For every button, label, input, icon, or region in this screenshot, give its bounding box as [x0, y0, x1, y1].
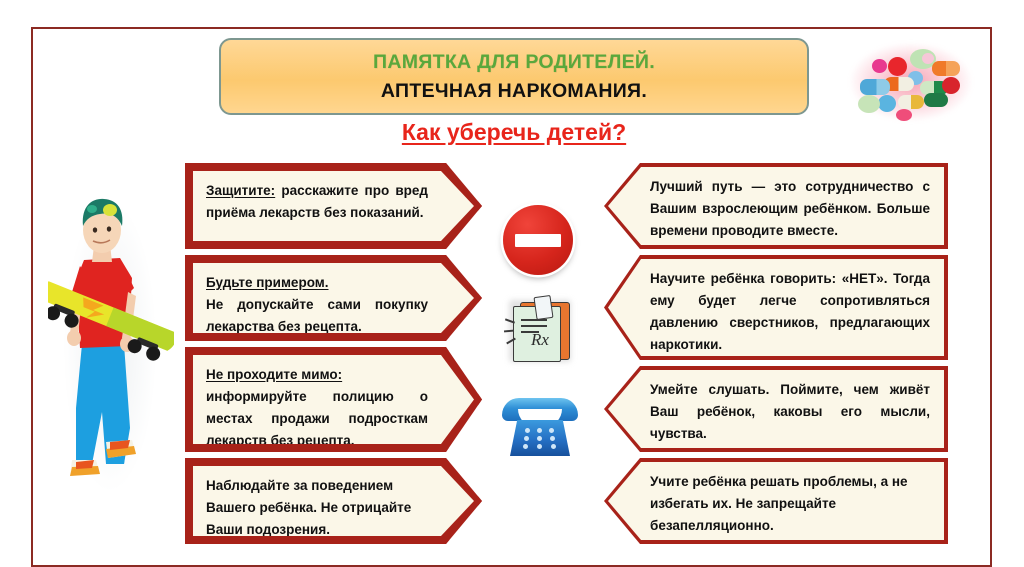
capsule-darkgreen	[924, 93, 948, 107]
advice-box-left-4-text: Наблюдайте за поведением Вашего ребёнка.…	[193, 466, 474, 536]
advice-box-right-4: Учите ребёнка решать проблемы, а не избе…	[604, 458, 948, 544]
advice-box-right-2: Научите ребёнка говорить: «НЕТ». Тогда е…	[604, 255, 948, 360]
pill-red-2	[942, 77, 960, 94]
rx-line-2	[521, 325, 547, 327]
advice-box-left-4: Наблюдайте за поведением Вашего ребёнка.…	[185, 458, 482, 544]
telephone-icon	[500, 396, 580, 458]
skater-figure-svg	[48, 196, 174, 496]
pills-image	[836, 33, 986, 133]
header-banner: ПАМЯТКА ДЛЯ РОДИТЕЛЕЙ. АПТЕЧНАЯ НАРКОМАН…	[219, 38, 809, 115]
advice-box-left-1-text: Защитите: расскажите про вред приёма лек…	[193, 171, 474, 241]
phone-key	[550, 436, 555, 441]
capsule-yellow-white	[898, 95, 924, 109]
pill-lightpink	[922, 53, 934, 64]
phone-key	[549, 428, 554, 433]
rx-line-1	[521, 319, 547, 321]
prescription-pad-icon: Rx	[505, 292, 577, 366]
phone-key	[524, 436, 529, 441]
advice-box-left-3: Не проходите мимо:информируйте полицию о…	[185, 347, 482, 452]
phone-key	[537, 444, 542, 449]
phone-key	[537, 436, 542, 441]
poster-title-line1: ПАМЯТКА ДЛЯ РОДИТЕЛЕЙ.	[373, 51, 655, 74]
pill-red-1	[888, 57, 907, 76]
pill-pink-1	[872, 59, 887, 73]
phone-key	[523, 444, 528, 449]
skateboarder-illustration	[48, 196, 174, 496]
capsule-orange-1	[932, 61, 960, 76]
poster-canvas: ПАМЯТКА ДЛЯ РОДИТЕЛЕЙ. АПТЕЧНАЯ НАРКОМАН…	[0, 0, 1024, 543]
advice-box-left-2-text: Будьте примером.Не допускайте сами покуп…	[193, 263, 474, 333]
no-entry-bar	[515, 234, 561, 247]
advice-box-right-3-text: Умейте слушать. Поймите, чем живёт Ваш р…	[608, 370, 944, 448]
poster-title-line2: АПТЕЧНАЯ НАРКОМАНИЯ.	[381, 80, 647, 103]
pill-green-2	[858, 95, 880, 113]
advice-body-2: Не допускайте сами покупку лекарства без…	[206, 297, 428, 334]
advice-box-right-1-text: Лучший путь — это сотрудничество с Вашим…	[608, 167, 944, 245]
advice-lead-2: Будьте примером.	[206, 275, 329, 290]
advice-lead-3: Не проходите мимо:	[206, 367, 342, 382]
advice-box-right-2-text: Научите ребёнка говорить: «НЕТ». Тогда е…	[608, 259, 944, 356]
pill-blue-2	[878, 95, 896, 112]
advice-box-right-3: Умейте слушать. Поймите, чем живёт Ваш р…	[604, 366, 948, 452]
poster-subtitle: Как уберечь детей?	[219, 119, 809, 146]
advice-box-right-1: Лучший путь — это сотрудничество с Вашим…	[604, 163, 948, 249]
capsule-blue-1	[860, 79, 890, 95]
advice-body-3: информируйте полицию о местах продажи по…	[206, 389, 428, 448]
phone-key	[551, 444, 556, 449]
phone-key	[525, 428, 530, 433]
advice-box-left-2: Будьте примером.Не допускайте сами покуп…	[185, 255, 482, 341]
pill-pink-2	[896, 109, 912, 121]
rx-label: Rx	[531, 330, 549, 350]
no-entry-sign-icon	[503, 205, 573, 275]
rx-clip	[533, 295, 553, 320]
advice-box-left-3-text: Не проходите мимо:информируйте полицию о…	[193, 355, 474, 444]
advice-lead-1: Защитите:	[206, 183, 275, 198]
phone-key	[537, 428, 542, 433]
advice-box-left-1: Защитите: расскажите про вред приёма лек…	[185, 163, 482, 249]
advice-box-right-4-text: Учите ребёнка решать проблемы, а не избе…	[608, 462, 944, 540]
